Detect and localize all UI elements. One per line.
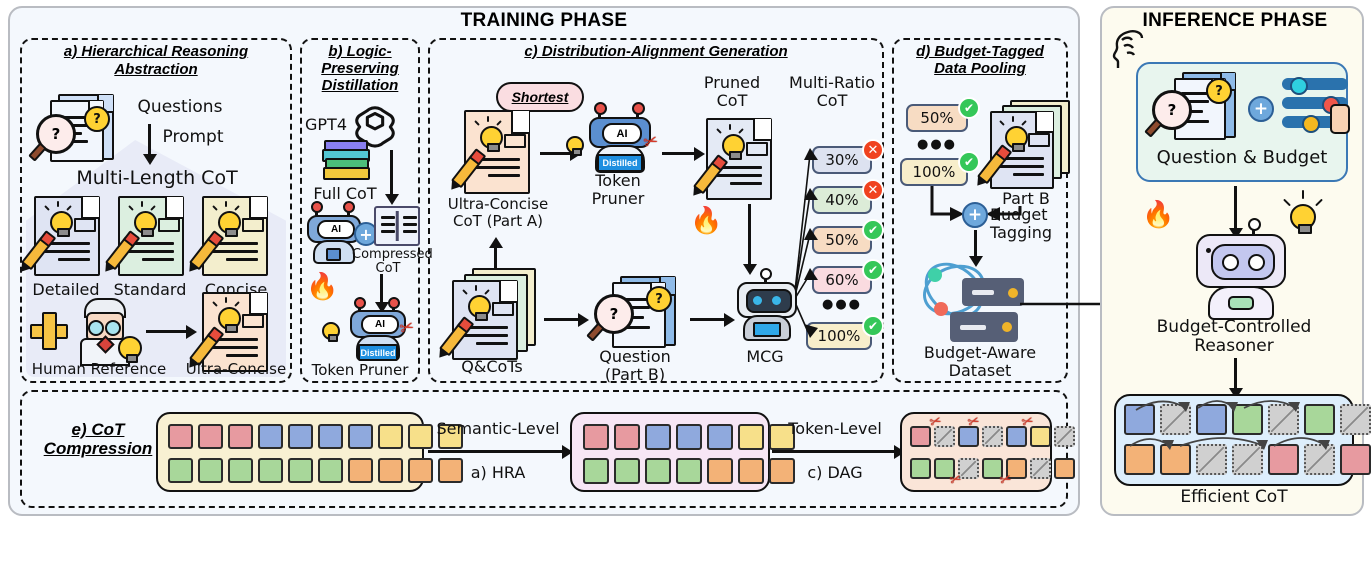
multi-ratio-label-line2: CoT [780,92,884,110]
token-square-pruned [1030,458,1051,479]
token-square [1124,444,1155,475]
module-b-title-line1: b) Logic- [302,44,418,61]
token-square-pruned [1268,404,1299,435]
token-square [348,458,373,483]
reasoner-label-line2: Reasoner [1106,337,1362,356]
module-a-title-line2: Abstraction [22,62,290,79]
token-square [318,424,343,449]
cot-variant-standard-label: Standard [102,281,198,299]
prompt-label: Prompt [148,128,238,147]
prompt-arrow [148,124,151,156]
pruned-to-mcg-arrow [748,204,751,266]
magnifier-icon-inference: ? [1152,90,1192,130]
stage1-row1 [168,424,463,449]
ratio-ellipsis-c: ●●● [812,298,872,312]
shortest-speech-bubble: Shortest [496,82,584,112]
compressed-to-pruner-arrow [380,274,383,304]
budget-aware-dataset-label: Budget-Aware Dataset [892,344,1068,379]
module-d-title-line1: d) Budget-Tagged [894,44,1066,61]
token-square [1054,458,1075,479]
token-square [168,458,193,483]
pool-ratio-ellipsis: ●●● [906,138,968,152]
efficient-cot-row1 [1124,404,1371,435]
budget-tagging-line2: Tagging [990,224,1068,242]
stage1-row2 [168,458,463,483]
mcg-label: MCG [730,348,800,366]
bulb-rays-inference [1286,190,1322,204]
stage2-row2 [583,458,795,484]
module-b-title: b) Logic- Preserving Distillation [302,44,418,94]
question-label-line1: Question [580,348,690,366]
token-square [378,424,403,449]
ai-tag-b: AI [317,220,355,239]
bulb-icon-inference [1290,204,1316,230]
fire-icon-c: 🔥 [690,206,722,236]
books-stack-icon [322,140,368,182]
question-bubble-icon-c: ? [646,286,672,312]
token-square-pruned [1232,444,1263,475]
token-square [378,458,403,483]
qcots-to-question-arrow [544,318,580,321]
distilled-tag-b: Distilled [358,344,398,361]
token-square [707,424,733,450]
token-square [707,458,733,484]
pruned-cot-label-line2: CoT [686,92,778,110]
module-a-title-line1: a) Hierarchical Reasoning [22,44,290,61]
token-square [258,424,283,449]
token-square [583,424,609,450]
token-square [614,458,640,484]
human-reference-label: Human Reference [24,361,174,378]
part-b-stack-icon [988,100,1068,192]
budget-plus-icon: + [962,202,988,228]
token-square [910,458,931,479]
efficient-cot-label: Efficient CoT [1114,488,1354,507]
qcots-label: Q&CoTs [444,358,540,376]
token-pruner-label-c: Token Pruner [576,172,660,207]
pool-ratio-status-50: ✔ [958,97,980,119]
module-e-title-line1: e) CoT [38,420,158,439]
ultra-concise-label-c-line2: CoT (Part A) [434,213,562,230]
token-square [738,458,764,484]
token-square [228,424,253,449]
token-square [198,424,223,449]
module-e-title: e) CoT Compression [38,420,158,458]
question-bubble-icon: ? [84,106,110,132]
reasoner-label-line1: Budget-Controlled [1106,318,1362,337]
mcg-robot-icon [736,278,794,340]
inference-plus-icon: + [1248,96,1274,122]
semantic-level-arrow [428,450,564,453]
token-pruner-robot-b: AI Distilled [348,302,404,360]
token-level-arrow [772,450,896,453]
token-level-sub: c) DAG [772,464,898,482]
token-square [198,458,223,483]
module-d-title-line2: Data Pooling [894,61,1066,78]
bulb-icon-b [322,322,340,340]
ai-robot-icon-b: AI [306,206,358,262]
question-label-line2: (Part B) [580,366,690,384]
token-square-pruned [1054,426,1075,447]
gpt4-label: GPT4 [302,116,350,134]
token-square [348,424,373,449]
token-pruner-label-c-line1: Token [576,172,660,190]
token-square [1304,404,1335,435]
ratio-status-100: ✔ [862,315,884,337]
ratio-status-30: ✕ [862,139,884,161]
token-square [1196,404,1227,435]
module-c-title: c) Distribution-Alignment Generation [430,44,882,61]
token-square [676,458,702,484]
token-square [1232,404,1263,435]
question-bubble-icon-inference: ? [1206,78,1232,104]
compressed-cot-label-line1: Compressed [352,248,424,262]
ultra-concise-label-c: Ultra-Concise CoT (Part A) [434,196,562,229]
semantic-level-label: Semantic-Level [428,420,568,438]
module-d-title: d) Budget-Tagged Data Pooling [894,44,1066,78]
questions-label: Questions [120,98,240,117]
budget-tagging-line1: Budget [990,206,1068,224]
token-square [1340,444,1371,475]
token-square-pruned [1340,404,1371,435]
token-square-pruned [1160,404,1191,435]
plus-sign-icon [30,312,64,346]
budget-tagging-label: Budget Tagging [990,206,1068,241]
question-part-b-icon: ? ? [590,276,680,352]
token-square [318,458,343,483]
ultra-to-pruner-arrow-c [540,152,572,155]
stage2-row1 [583,424,795,450]
token-square [1268,444,1299,475]
token-square [645,458,671,484]
token-square [614,424,640,450]
pruned-cot-doc [700,118,776,202]
human-to-ultra-arrow [146,330,188,333]
module-a-title: a) Hierarchical Reasoning Abstraction [22,44,290,79]
shortest-bubble-label: Shortest [512,89,569,105]
fire-icon-inference: 🔥 [1142,200,1174,230]
ultra-concise-label: Ultra-Concise [184,361,288,378]
distilled-tag-c: Distilled [597,154,643,172]
budget-aware-dataset-icon [920,262,1030,346]
token-square-pruned [982,426,1003,447]
pruned-cot-label: Pruned CoT [686,74,778,109]
token-level-label: Token-Level [772,420,898,438]
cot-variant-concise [202,196,274,292]
question-to-reasoner-arrow [1234,186,1237,230]
reasoner-to-cot-arrow [1234,358,1237,390]
semantic-level-sub: a) HRA [428,464,568,482]
token-square [676,424,702,450]
token-square-pruned [1304,444,1335,475]
cot-variant-standard [118,196,190,292]
gpt-to-compressed-arrow [390,150,393,196]
token-square [228,458,253,483]
multi-ratio-cot-label: Multi-Ratio CoT [780,74,884,109]
training-phase-title: TRAINING PHASE [8,10,1080,32]
dataset-label-line1: Budget-Aware [892,344,1068,362]
token-square [1030,426,1051,447]
cot-variant-detailed-label: Detailed [18,281,114,299]
token-square [168,424,193,449]
pruner-to-pruned-arrow [662,152,696,155]
full-cot-label: Full CoT [302,185,388,203]
compressed-cot-label: Compressed CoT [352,248,424,277]
token-square [258,458,283,483]
inference-question-doc: ? ? [1148,72,1244,144]
questions-doc-icon: ? ? [32,92,124,164]
budget-slider-icon [1282,78,1350,134]
token-pruner-label-c-line2: Pruner [576,190,660,208]
ratio-status-40: ✕ [862,179,884,201]
efficient-cot-row2 [1124,444,1371,475]
ultra-concise-doc-c [458,110,538,196]
tagging-to-dataset-arrow [974,230,977,258]
token-square [583,458,609,484]
ultra-concise-label-c-line1: Ultra-Concise [434,196,562,213]
qcots-stack-icon [444,268,538,360]
token-square [288,458,313,483]
question-to-mcg-arrow [690,318,726,321]
magnifier-icon-c: ? [594,294,634,334]
magnifier-icon: ? [36,114,76,154]
cot-variant-detailed [34,196,106,292]
figure-root: TRAINING PHASE a) Hierarchical Reasoning… [0,0,1372,588]
ratio-status-50: ✔ [862,219,884,241]
token-square [1160,444,1191,475]
question-part-b-label: Question (Part B) [580,348,690,383]
module-b-title-line2: Preserving [302,61,418,78]
fire-icon-b: 🔥 [306,272,338,302]
multi-length-cot-label: Multi-Length CoT [32,168,282,189]
budget-controlled-reasoner-label: Budget-Controlled Reasoner [1106,318,1362,355]
token-square [738,424,764,450]
token-square [645,424,671,450]
token-square [288,424,313,449]
pruned-cot-label-line1: Pruned [686,74,778,92]
pool-ratio-status-100: ✔ [958,151,980,173]
token-square [1124,404,1155,435]
compressed-cot-label-line2: CoT [352,262,424,276]
question-budget-label: Question & Budget [1140,148,1344,168]
module-b-title-line3: Distillation [302,78,418,95]
bulb-icon-c [566,136,584,154]
token-square [910,426,931,447]
token-pruner-robot-c: AI Distilled [588,108,648,170]
ai-tag-c: AI [602,123,642,144]
qcots-to-ultra-arrow [494,246,497,270]
stage3-row2 [910,458,1075,479]
token-square-pruned [1196,444,1227,475]
compressed-cot-book-icon [374,206,420,246]
multi-ratio-label-line1: Multi-Ratio [780,74,884,92]
budget-controlled-reasoner-robot [1196,228,1282,320]
dataset-label-line2: Dataset [892,362,1068,380]
module-e-title-line2: Compression [38,439,158,458]
human-reference-icon [74,298,140,362]
token-pruner-label-b: Token Pruner [300,362,420,379]
ratio-status-60: ✔ [862,259,884,281]
